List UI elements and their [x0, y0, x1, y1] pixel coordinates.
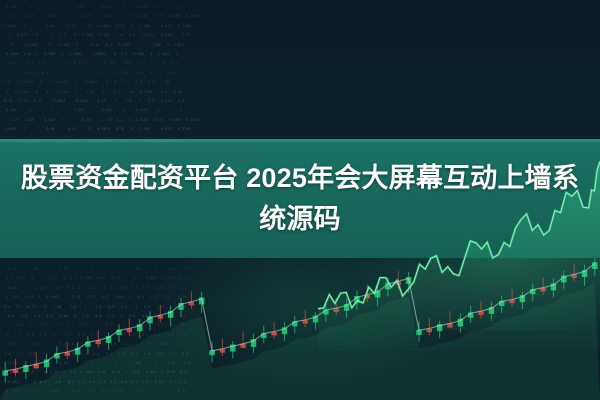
title-container: 股票资金配资平台 2025年会大屏幕互动上墙系统源码 — [0, 139, 600, 258]
banner-image: 0.381 4 7 1.995 6.842 3 1.3502 4 9 3.27 … — [0, 0, 600, 400]
page-title: 股票资金配资平台 2025年会大屏幕互动上墙系统源码 — [14, 158, 586, 240]
